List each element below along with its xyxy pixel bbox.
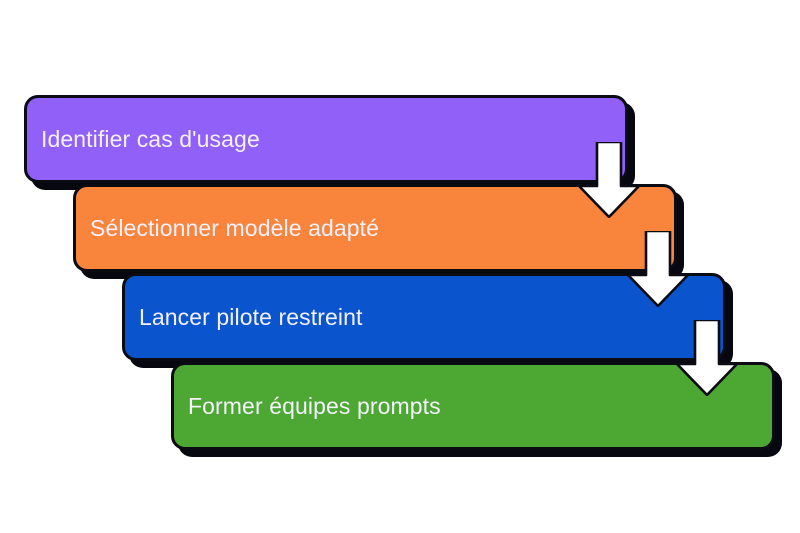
process-step-4-label: Former équipes prompts xyxy=(188,395,441,418)
process-step-3-label: Lancer pilote restreint xyxy=(139,306,362,329)
diagram-canvas: Identifier cas d'usage Sélectionner modè… xyxy=(0,0,800,533)
arrow-down-icon-step3-to-step4 xyxy=(676,320,738,396)
process-step-1-label: Identifier cas d'usage xyxy=(41,128,260,151)
arrow-down-icon-step1-to-step2 xyxy=(578,142,640,218)
process-step-2-label: Sélectionner modèle adapté xyxy=(90,217,379,240)
arrow-down-icon-step2-to-step3 xyxy=(627,231,689,307)
process-step-1[interactable]: Identifier cas d'usage xyxy=(24,95,628,183)
